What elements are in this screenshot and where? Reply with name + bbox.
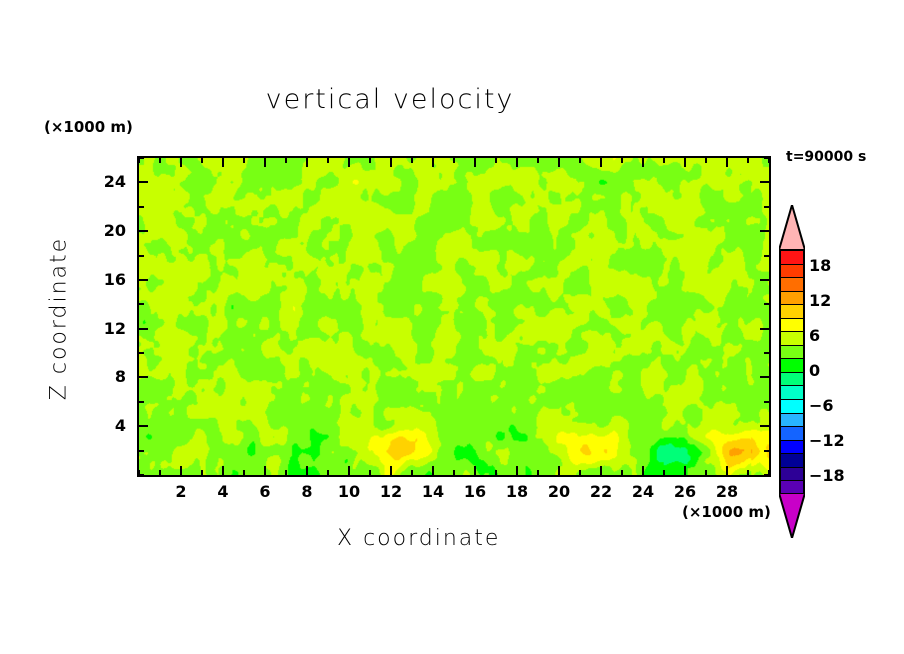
contour-plot-area xyxy=(137,156,771,477)
y-axis-tick xyxy=(764,206,769,208)
x-axis-tick xyxy=(516,466,518,475)
x-axis-tick xyxy=(453,158,455,163)
x-axis-tick xyxy=(285,470,287,475)
y-axis-tick xyxy=(139,303,144,305)
x-axis-tick xyxy=(327,158,329,163)
y-axis-tick xyxy=(139,157,144,159)
colorbar-tick-label: −18 xyxy=(809,466,845,485)
x-tick-label: 10 xyxy=(329,482,369,501)
x-axis-tick xyxy=(474,466,476,475)
x-axis-tick xyxy=(726,158,728,167)
x-axis-tick xyxy=(579,470,581,475)
x-tick-label: 22 xyxy=(581,482,621,501)
y-tick-label: 4 xyxy=(86,416,126,435)
colorbar-tick-label: 6 xyxy=(809,326,820,345)
x-tick-label: 14 xyxy=(413,482,453,501)
x-axis-tick xyxy=(432,466,434,475)
colorbar-tick-label: 12 xyxy=(809,291,831,310)
colorbar-band xyxy=(781,319,803,333)
x-tick-label: 18 xyxy=(497,482,537,501)
y-axis-tick xyxy=(764,352,769,354)
x-axis-tick xyxy=(306,466,308,475)
x-axis-tick xyxy=(642,158,644,167)
colorbar-band xyxy=(781,414,803,428)
x-axis-tick xyxy=(159,470,161,475)
colorbar-band xyxy=(781,427,803,441)
y-tick-label: 16 xyxy=(86,270,126,289)
y-axis-tick xyxy=(764,474,769,476)
x-axis-tick xyxy=(348,466,350,475)
y-axis-tick xyxy=(139,450,144,452)
y-axis-tick xyxy=(139,230,148,232)
x-axis-tick xyxy=(747,470,749,475)
y-axis-title: Z coordinate xyxy=(47,229,72,409)
x-axis-tick xyxy=(432,158,434,167)
colorbar-band xyxy=(781,332,803,346)
x-axis-tick xyxy=(474,158,476,167)
x-axis-tick xyxy=(201,470,203,475)
x-axis-tick xyxy=(621,158,623,163)
contour-field-canvas xyxy=(139,158,769,475)
x-axis-tick xyxy=(264,158,266,167)
x-axis-tick xyxy=(222,466,224,475)
x-axis-tick xyxy=(243,158,245,163)
x-tick-label: 4 xyxy=(203,482,243,501)
x-tick-label: 6 xyxy=(245,482,285,501)
colorbar-tick-label: −12 xyxy=(809,431,845,450)
x-axis-tick xyxy=(705,158,707,163)
y-axis-tick xyxy=(139,255,144,257)
x-axis-tick xyxy=(180,466,182,475)
y-axis-tick xyxy=(764,303,769,305)
y-axis-tick xyxy=(764,255,769,257)
x-axis-tick xyxy=(411,470,413,475)
y-axis-tick xyxy=(139,206,144,208)
x-axis-tick xyxy=(537,158,539,163)
x-axis-tick xyxy=(684,158,686,167)
x-tick-label: 26 xyxy=(665,482,705,501)
x-axis-tick xyxy=(537,470,539,475)
x-axis-tick xyxy=(621,470,623,475)
colorbar-top-arrow-icon xyxy=(779,205,805,250)
colorbar-band xyxy=(781,373,803,387)
y-axis-tick xyxy=(139,425,148,427)
x-axis-unit-label: (×1000 m) xyxy=(682,503,771,521)
colorbar-tick-label: 18 xyxy=(809,256,831,275)
x-axis-tick xyxy=(411,158,413,163)
y-tick-label: 24 xyxy=(86,172,126,191)
colorbar-bands xyxy=(779,249,805,493)
x-axis-tick xyxy=(369,470,371,475)
colorbar-band xyxy=(781,400,803,414)
x-axis-tick xyxy=(285,158,287,163)
x-axis-tick xyxy=(558,466,560,475)
x-axis-tick xyxy=(600,466,602,475)
x-axis-tick xyxy=(600,158,602,167)
x-axis-tick xyxy=(201,158,203,163)
x-axis-tick xyxy=(495,470,497,475)
x-axis-tick xyxy=(495,158,497,163)
x-axis-tick xyxy=(159,158,161,163)
x-axis-tick xyxy=(684,466,686,475)
x-tick-label: 2 xyxy=(161,482,201,501)
x-axis-tick xyxy=(180,158,182,167)
colorbar-band xyxy=(781,292,803,306)
y-axis-tick xyxy=(139,279,148,281)
colorbar-tick-label: −6 xyxy=(809,396,834,415)
x-axis-tick xyxy=(369,158,371,163)
y-axis-tick xyxy=(760,376,769,378)
x-axis-tick xyxy=(243,470,245,475)
colorbar-band xyxy=(781,359,803,373)
colorbar-bottom-arrow-icon xyxy=(779,493,805,538)
x-axis-tick xyxy=(705,470,707,475)
y-axis-tick xyxy=(764,157,769,159)
y-axis-tick xyxy=(760,279,769,281)
x-axis-tick xyxy=(663,158,665,163)
x-axis-tick xyxy=(390,158,392,167)
y-axis-tick xyxy=(764,450,769,452)
y-tick-label: 20 xyxy=(86,221,126,240)
x-axis-tick xyxy=(579,158,581,163)
x-tick-label: 24 xyxy=(623,482,663,501)
y-axis-tick xyxy=(139,352,144,354)
colorbar-band xyxy=(781,265,803,279)
x-tick-label: 20 xyxy=(539,482,579,501)
colorbar-band xyxy=(781,278,803,292)
y-tick-label: 8 xyxy=(86,367,126,386)
x-axis-tick xyxy=(453,470,455,475)
x-axis-tick xyxy=(222,158,224,167)
colorbar-band xyxy=(781,454,803,468)
y-axis-tick xyxy=(139,401,144,403)
x-tick-label: 8 xyxy=(287,482,327,501)
y-axis-tick xyxy=(760,328,769,330)
colorbar-band xyxy=(781,468,803,482)
x-axis-tick xyxy=(516,158,518,167)
x-tick-label: 12 xyxy=(371,482,411,501)
x-axis-tick xyxy=(327,470,329,475)
x-axis-tick xyxy=(726,466,728,475)
x-axis-tick xyxy=(306,158,308,167)
x-axis-tick xyxy=(642,466,644,475)
x-axis-tick xyxy=(348,158,350,167)
y-tick-label: 12 xyxy=(86,319,126,338)
colorbar-band xyxy=(781,441,803,455)
x-axis-tick xyxy=(390,466,392,475)
y-axis-tick xyxy=(139,376,148,378)
x-axis-tick xyxy=(747,158,749,163)
x-axis-tick xyxy=(264,466,266,475)
colorbar-tick-label: 0 xyxy=(809,361,820,380)
y-axis-tick xyxy=(139,328,148,330)
x-axis-title: X coordinate xyxy=(337,526,500,551)
x-axis-tick xyxy=(663,470,665,475)
colorbar-band xyxy=(781,346,803,360)
y-axis-tick xyxy=(760,230,769,232)
time-annotation: t=90000 s xyxy=(786,149,866,165)
y-axis-tick xyxy=(760,425,769,427)
y-axis-tick xyxy=(139,181,148,183)
x-axis-tick xyxy=(558,158,560,167)
colorbar-band xyxy=(781,251,803,265)
y-axis-tick xyxy=(764,401,769,403)
page-title: vertical velocity xyxy=(0,84,780,115)
y-axis-tick xyxy=(760,181,769,183)
colorbar-band xyxy=(781,305,803,319)
y-axis-unit-label: (×1000 m) xyxy=(44,118,133,136)
colorbar-band xyxy=(781,386,803,400)
x-tick-label: 16 xyxy=(455,482,495,501)
x-tick-label: 28 xyxy=(707,482,747,501)
y-axis-tick xyxy=(139,474,144,476)
